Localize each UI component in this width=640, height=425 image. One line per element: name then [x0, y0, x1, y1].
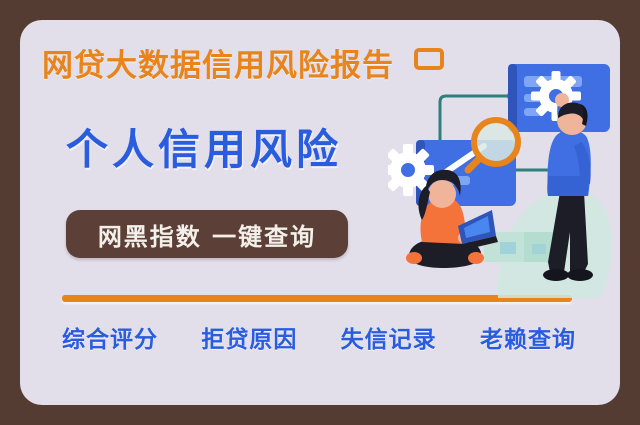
page-title: 网贷大数据信用风险报告 [42, 40, 394, 85]
feature-list: 综合评分 拒贷原因 失信记录 老赖查询 [62, 320, 576, 354]
query-cta-button[interactable]: 网黑指数 一键查询 [66, 210, 348, 258]
feature-item-defaulter-query[interactable]: 老赖查询 [480, 320, 576, 354]
feature-item-score[interactable]: 综合评分 [62, 320, 158, 354]
banner-card: 网贷大数据信用风险报告 个人信用风险 网黑指数 一键查询 综合评分 拒贷原因 失… [20, 20, 620, 405]
data-analysis-illustration [388, 46, 620, 298]
feature-item-rejection-reason[interactable]: 拒贷原因 [201, 320, 297, 354]
headline-text: 个人信用风险 [66, 116, 342, 177]
orange-square-badge [416, 50, 442, 68]
credit-risk-report-banner: 网贷大数据信用风险报告 个人信用风险 网黑指数 一键查询 综合评分 拒贷原因 失… [0, 0, 640, 425]
query-cta-label: 网黑指数 一键查询 [98, 217, 316, 252]
feature-item-dishonesty-record[interactable]: 失信记录 [341, 320, 437, 354]
